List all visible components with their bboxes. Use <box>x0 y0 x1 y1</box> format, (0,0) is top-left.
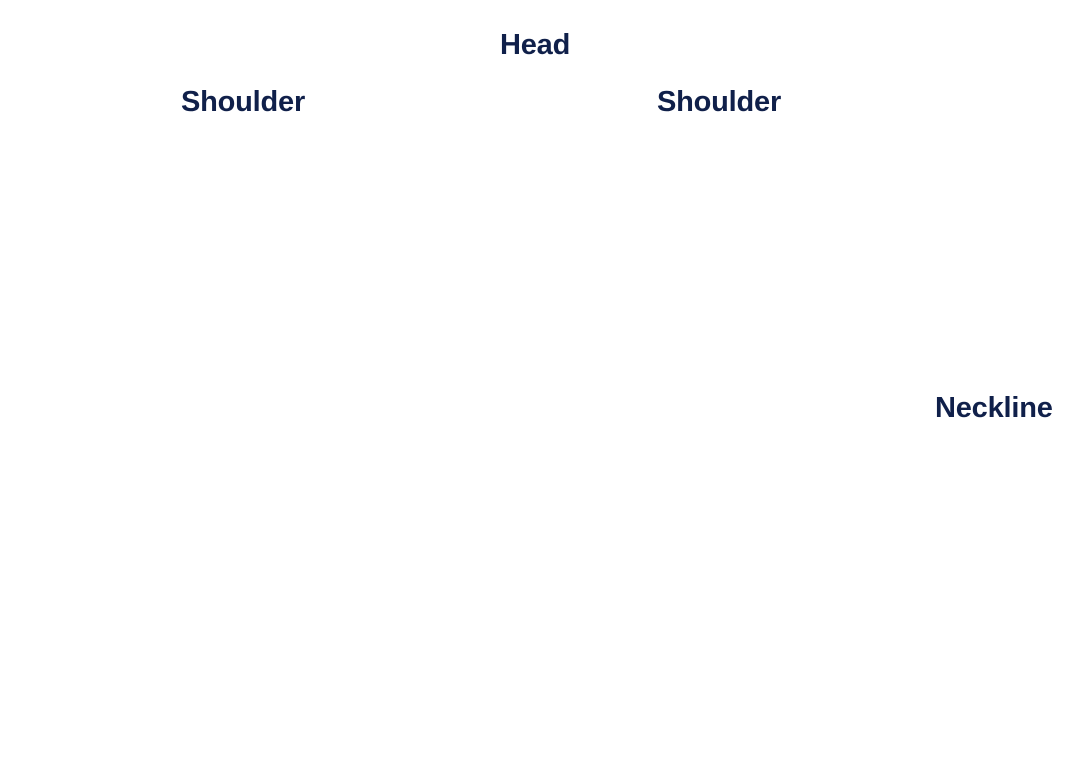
chart-canvas-background <box>0 0 1076 760</box>
head-and-shoulders-chart: Shoulder Head Shoulder Neckline S トレーダーラ… <box>0 0 1076 760</box>
